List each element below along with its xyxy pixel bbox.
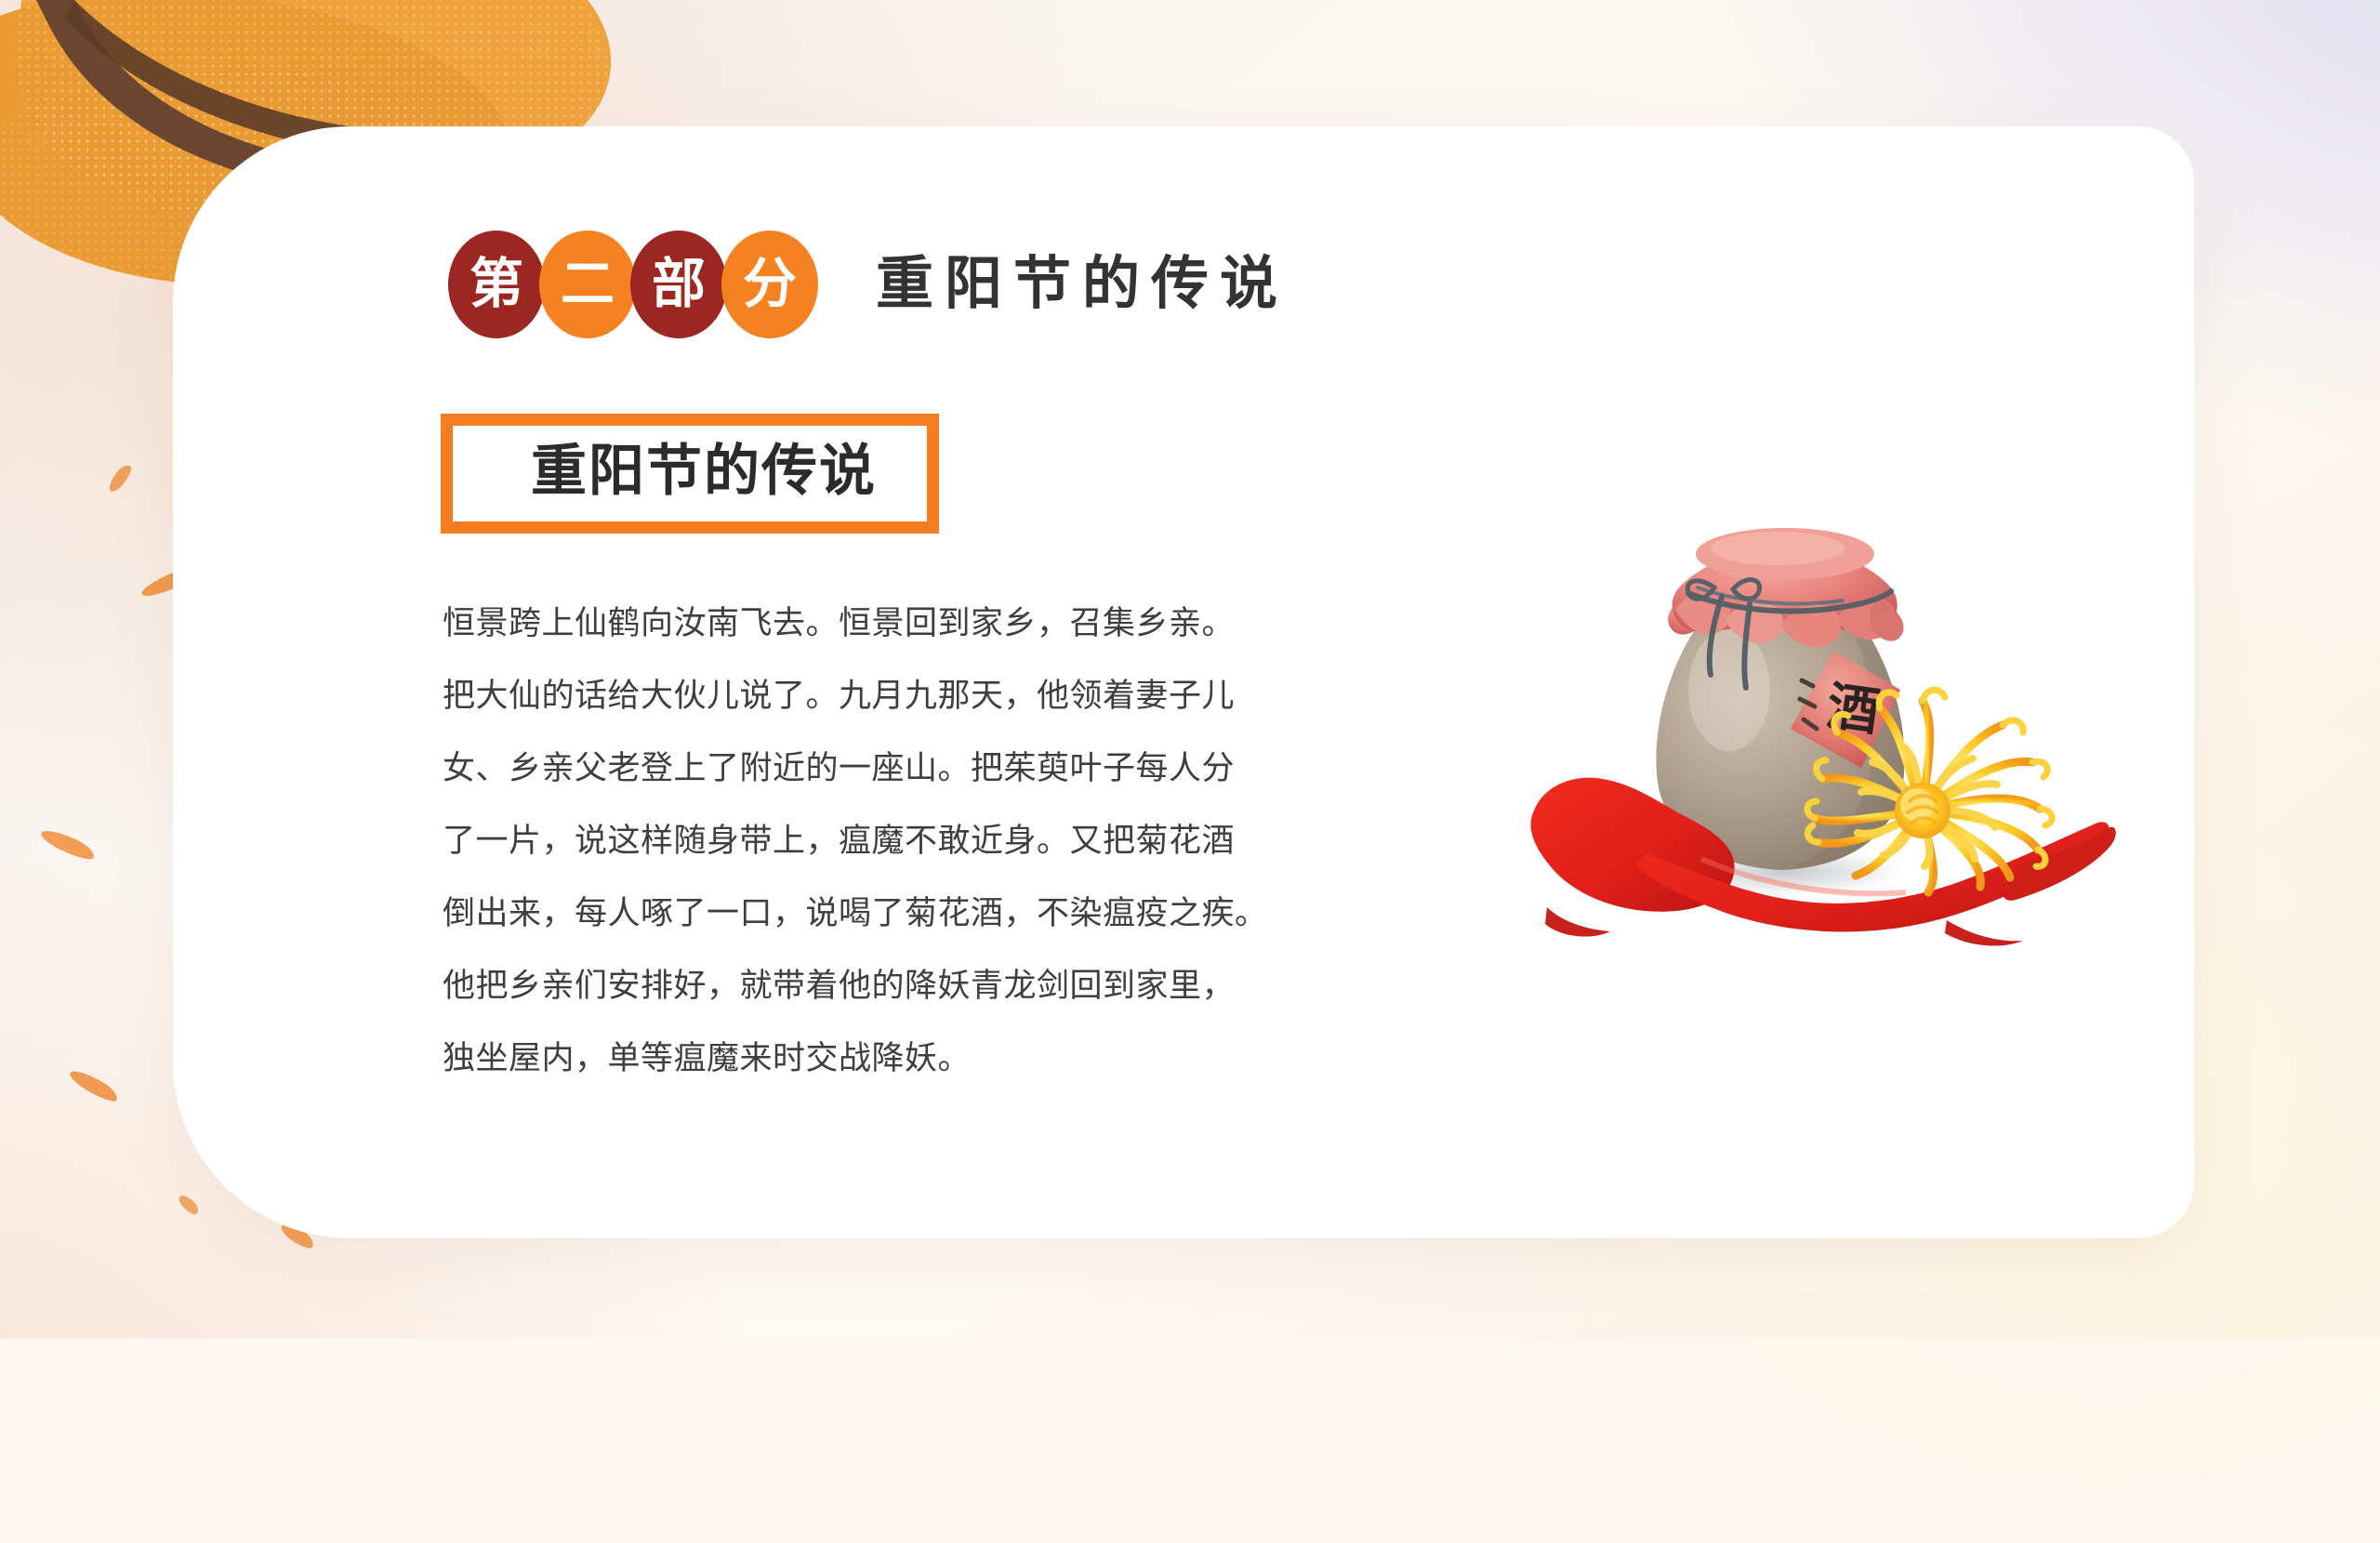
jar-label-char: 酒 xyxy=(1823,677,1883,742)
subtitle-text: 重阳节的传说 xyxy=(531,439,877,505)
section-badge-4: 分 xyxy=(721,231,818,338)
body-line: 了一片，说这样随身带上，瘟魔不敢近身。又把菊花酒 xyxy=(443,805,1465,877)
wine-jar-illustration: 酒 xyxy=(1506,483,2120,976)
body-line: 倒出来，每人啄了一口，说喝了菊花酒，不染瘟疫之疾。 xyxy=(443,877,1465,950)
body-line: 独坐屋内，单等瘟魔来时交战降妖。 xyxy=(443,1022,1465,1095)
body-line: 恒景跨上仙鹤向汝南飞去。恒景回到家乡，召集乡亲。 xyxy=(443,587,1465,660)
body-line: 把大仙的话给大伙儿说了。九月九那天，他领着妻子儿 xyxy=(443,660,1465,732)
section-badge-2: 二 xyxy=(539,231,636,338)
section-title-row: 第 二 部 分 重阳节的传说 xyxy=(448,231,1289,338)
section-badge-1: 第 xyxy=(448,231,545,338)
section-badge-1-label: 第 xyxy=(469,257,523,311)
body-line: 他把乡亲们安排好，就带着他的降妖青龙剑回到家里， xyxy=(443,950,1465,1022)
subtitle-frame: 重阳节的传说 xyxy=(441,414,939,534)
section-badge-3-label: 部 xyxy=(652,257,706,311)
section-badge-3: 部 xyxy=(630,231,727,338)
body-paragraph: 恒景跨上仙鹤向汝南飞去。恒景回到家乡，召集乡亲。 把大仙的话给大伙儿说了。九月九… xyxy=(443,587,1465,1095)
page-title: 重阳节的传说 xyxy=(876,256,1289,313)
body-line: 女、乡亲父老登上了附近的一座山。把茱萸叶子每人分 xyxy=(443,732,1465,805)
section-badge-2-label: 二 xyxy=(561,257,615,311)
section-badge-4-label: 分 xyxy=(743,257,797,311)
